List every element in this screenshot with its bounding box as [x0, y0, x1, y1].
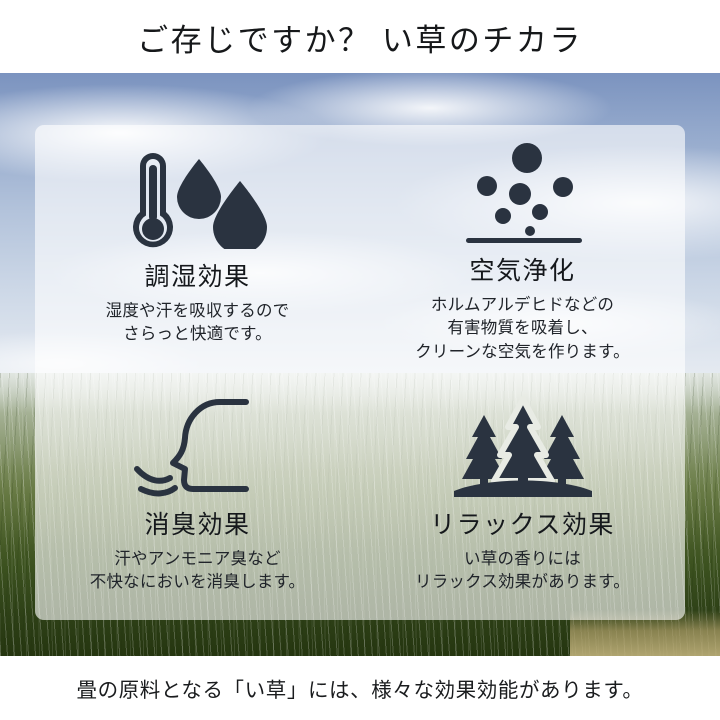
forest-trees-icon	[448, 391, 598, 499]
face-profile-breath-icon	[123, 391, 273, 499]
footer-band: 畳の原料となる「い草」には、様々な効果効能があります。	[0, 656, 720, 720]
feature-description-deodorizing: 汗やアンモニア臭など 不快なにおいを消臭します。	[90, 548, 305, 595]
feature-description-relaxation: い草の香りには リラックス効果があります。	[415, 548, 630, 595]
feature-card-relaxation: リラックス効果 い草の香りには リラックス効果があります。	[360, 373, 685, 621]
feature-card-deodorizing: 消臭効果 汗やアンモニア臭など 不快なにおいを消臭します。	[35, 373, 360, 621]
page-title: ご存じですか？ い草のチカラ	[137, 15, 583, 60]
feature-title-deodorizing: 消臭効果	[144, 505, 250, 541]
infographic-page: ご存じですか？ い草のチカラ 調湿効果 湿度や汗を吸収するので さらっと快適です…	[0, 0, 720, 720]
feature-description-air-purification: ホルムアルデヒドなどの 有害物質を吸着し、 クリーンな空気を作ります。	[415, 294, 630, 364]
feature-title-air-purification: 空気浄化	[469, 251, 575, 287]
thermometer-droplets-icon	[123, 143, 273, 251]
air-particles-icon	[448, 143, 598, 243]
feature-card-humidity: 調湿効果 湿度や汗を吸収するので さらっと快適です。	[35, 125, 360, 373]
feature-card-air-purification: 空気浄化 ホルムアルデヒドなどの 有害物質を吸着し、 クリーンな空気を作ります。	[360, 125, 685, 373]
feature-description-humidity: 湿度や汗を吸収するので さらっと快適です。	[106, 300, 290, 347]
feature-grid: 調湿効果 湿度や汗を吸収するので さらっと快適です。	[35, 125, 685, 620]
header-band: ご存じですか？ い草のチカラ	[0, 0, 720, 73]
feature-title-humidity: 調湿効果	[144, 257, 250, 293]
footer-caption: 畳の原料となる「い草」には、様々な効果効能があります。	[76, 673, 643, 703]
feature-title-relaxation: リラックス効果	[430, 505, 615, 541]
